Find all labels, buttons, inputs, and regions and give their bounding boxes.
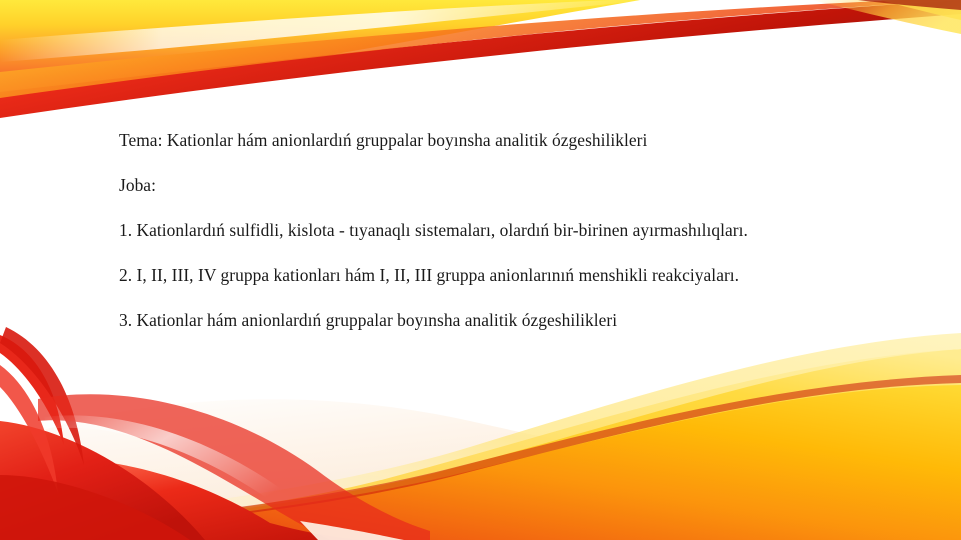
slide-line-topic: Tema: Kationlar hám anionlardıń gruppala…	[119, 118, 879, 163]
slide-text-content: Tema: Kationlar hám anionlardıń gruppala…	[119, 118, 879, 343]
bottom-decoration-graphic	[0, 325, 961, 540]
presentation-slide: Tema: Kationlar hám anionlardıń gruppala…	[0, 0, 961, 540]
slide-line-item-1: 1. Kationlardıń sulfidli, kislota - tıya…	[119, 208, 879, 253]
slide-line-plan-heading: Joba:	[119, 163, 879, 208]
top-wave-svg	[0, 0, 961, 130]
slide-line-item-3: 3. Kationlar hám anionlardıń gruppalar b…	[119, 298, 879, 343]
top-decoration-graphic	[0, 0, 961, 130]
bottom-wave-svg	[0, 325, 961, 540]
slide-line-item-2: 2. I, II, III, IV gruppa kationları hám …	[119, 253, 879, 298]
